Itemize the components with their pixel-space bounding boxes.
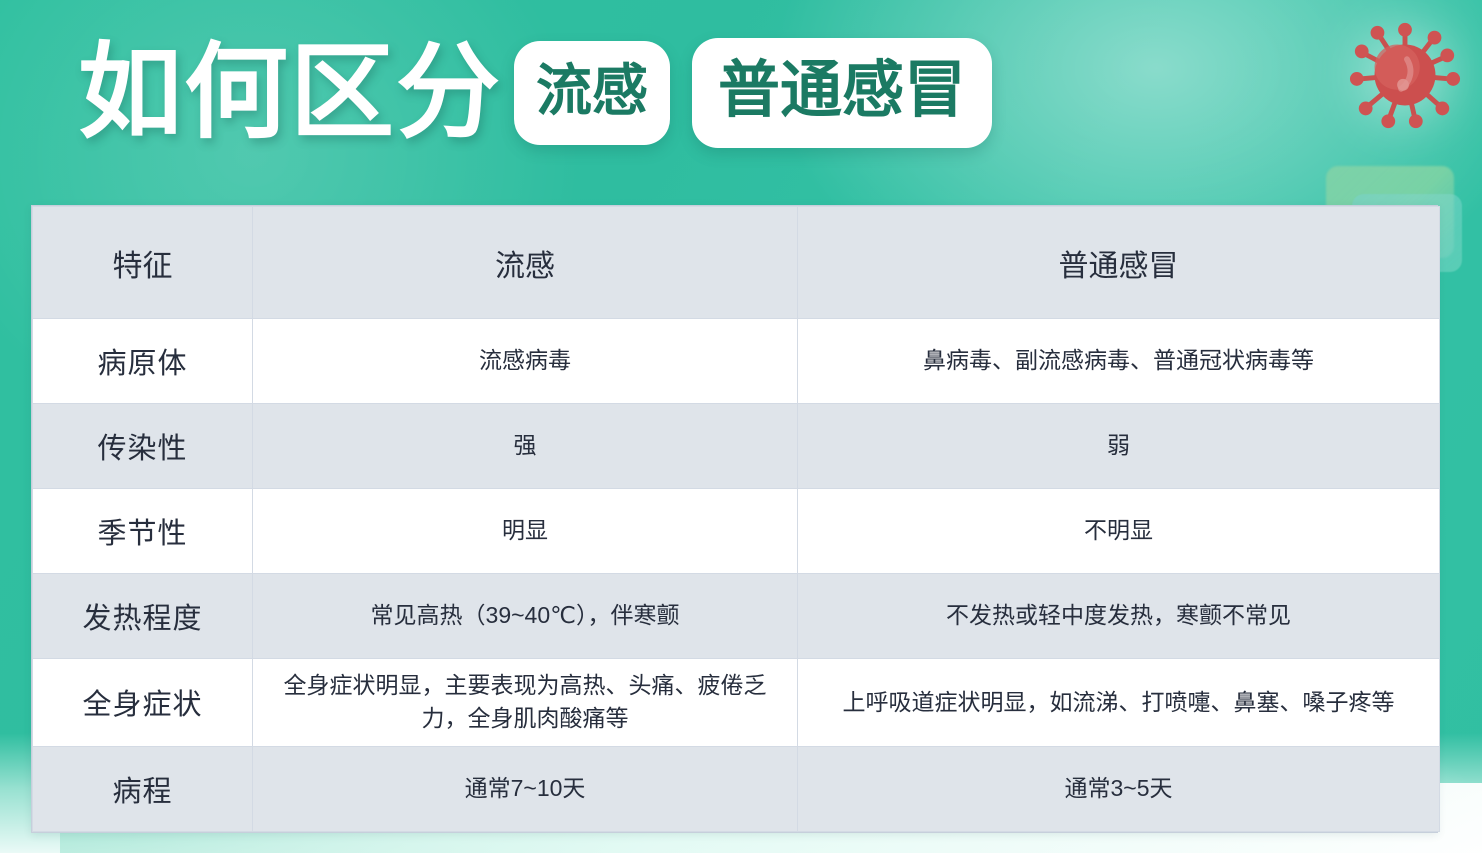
table-row: 病原体 流感病毒 鼻病毒、副流感病毒、普通冠状病毒等 bbox=[33, 319, 1440, 404]
column-header-cold: 普通感冒 bbox=[798, 207, 1440, 319]
row-label: 病程 bbox=[33, 746, 253, 831]
row-value-cold: 弱 bbox=[798, 404, 1440, 489]
table-row: 全身症状 全身症状明显，主要表现为高热、头痛、疲倦乏力，全身肌肉酸痛等 上呼吸道… bbox=[33, 659, 1440, 747]
table-row: 发热程度 常见高热（39~40℃），伴寒颤 不发热或轻中度发热，寒颤不常见 bbox=[33, 574, 1440, 659]
row-value-flu: 强 bbox=[253, 404, 798, 489]
row-label: 全身症状 bbox=[33, 659, 253, 747]
row-value-cold: 鼻病毒、副流感病毒、普通冠状病毒等 bbox=[798, 319, 1440, 404]
page-title: 如何区分 流感 普通感冒 bbox=[78, 38, 992, 148]
table-header-row: 特征 流感 普通感冒 bbox=[33, 207, 1440, 319]
row-label: 季节性 bbox=[33, 489, 253, 574]
row-value-cold: 上呼吸道症状明显，如流涕、打喷嚏、鼻塞、嗓子疼等 bbox=[798, 659, 1440, 747]
row-value-flu: 全身症状明显，主要表现为高热、头痛、疲倦乏力，全身肌肉酸痛等 bbox=[253, 659, 798, 747]
row-label: 传染性 bbox=[33, 404, 253, 489]
row-value-cold: 通常3~5天 bbox=[798, 746, 1440, 831]
row-value-cold: 不发热或轻中度发热，寒颤不常见 bbox=[798, 574, 1440, 659]
badge-flu: 流感 bbox=[514, 41, 670, 145]
comparison-table: 特征 流感 普通感冒 病原体 流感病毒 鼻病毒、副流感病毒、普通冠状病毒等 传染… bbox=[32, 206, 1440, 832]
row-value-flu: 常见高热（39~40℃），伴寒颤 bbox=[253, 574, 798, 659]
table-row: 病程 通常7~10天 通常3~5天 bbox=[33, 746, 1440, 831]
row-value-cold: 不明显 bbox=[798, 489, 1440, 574]
row-label: 病原体 bbox=[33, 319, 253, 404]
virus-particle-icon bbox=[1346, 16, 1464, 134]
comparison-table-container: 特征 流感 普通感冒 病原体 流感病毒 鼻病毒、副流感病毒、普通冠状病毒等 传染… bbox=[31, 205, 1438, 833]
column-header-flu: 流感 bbox=[253, 207, 798, 319]
table-row: 传染性 强 弱 bbox=[33, 404, 1440, 489]
column-header-feature: 特征 bbox=[33, 207, 253, 319]
row-value-flu: 流感病毒 bbox=[253, 319, 798, 404]
table-row: 季节性 明显 不明显 bbox=[33, 489, 1440, 574]
row-value-flu: 通常7~10天 bbox=[253, 746, 798, 831]
badge-common-cold: 普通感冒 bbox=[692, 38, 992, 148]
row-value-flu: 明显 bbox=[253, 489, 798, 574]
row-label: 发热程度 bbox=[33, 574, 253, 659]
title-main-text: 如何区分 bbox=[78, 41, 502, 145]
